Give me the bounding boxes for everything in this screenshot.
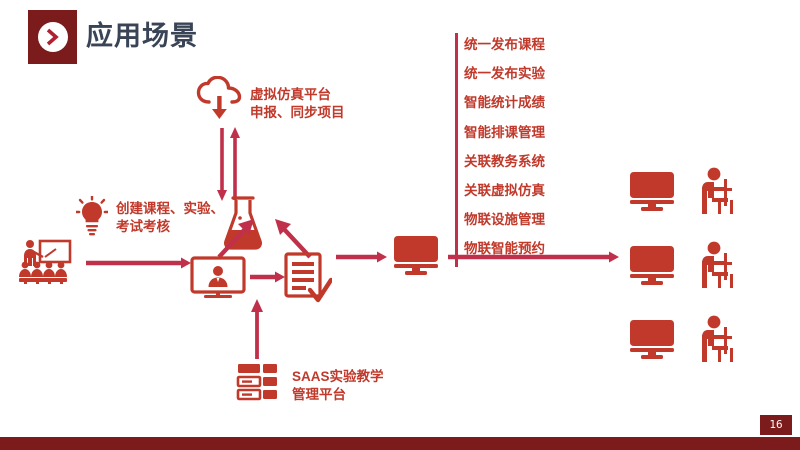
classroom-teaching-icon bbox=[16, 238, 74, 289]
monitor-icon bbox=[628, 170, 676, 217]
lightbulb-idea-icon bbox=[76, 196, 108, 241]
cloud-platform-label: 虚拟仿真平台 申报、同步项目 bbox=[250, 86, 345, 122]
student-seated-icon bbox=[698, 166, 736, 219]
list-item: 关联教务系统 bbox=[464, 147, 545, 176]
document-to-central-monitor-arrow bbox=[336, 250, 388, 269]
student-seated-icon bbox=[698, 314, 736, 367]
feature-list-rule bbox=[455, 33, 458, 267]
saas-to-document-arrow bbox=[249, 298, 265, 365]
saas-platform-label: SAAS实验教学 管理平台 bbox=[292, 368, 384, 404]
page-number: 16 bbox=[760, 415, 792, 435]
document-checkmark-icon bbox=[284, 252, 332, 309]
title-badge bbox=[28, 10, 77, 64]
create-course-label: 创建课程、实验、 考试考核 bbox=[116, 200, 224, 236]
list-item: 关联虚拟仿真 bbox=[464, 176, 545, 205]
list-item: 统一发布课程 bbox=[464, 30, 545, 59]
chevron-right-circle-icon bbox=[38, 22, 68, 52]
monitor-to-document-arrow bbox=[250, 270, 286, 289]
classroom-to-monitor-arrow bbox=[86, 256, 192, 275]
feature-list: 统一发布课程 统一发布实验 智能统计成绩 智能排课管理 关联教务系统 关联虚拟仿… bbox=[464, 30, 545, 264]
cloud-download-icon bbox=[196, 76, 244, 125]
cloud-flask-bidirectional-arrow bbox=[216, 126, 242, 207]
server-stack-icon bbox=[236, 362, 280, 407]
slide-canvas: 应用场景 bbox=[0, 0, 800, 450]
list-item: 统一发布实验 bbox=[464, 59, 545, 88]
footer-bar bbox=[0, 437, 800, 450]
list-item: 物联智能预约 bbox=[464, 234, 545, 263]
monitor-person-icon bbox=[190, 256, 246, 305]
monitor-icon bbox=[628, 318, 676, 365]
list-item: 智能统计成绩 bbox=[464, 88, 545, 117]
list-item: 物联设施管理 bbox=[464, 205, 545, 234]
monitor-icon bbox=[628, 244, 676, 291]
list-item: 智能排课管理 bbox=[464, 118, 545, 147]
monitor-icon bbox=[392, 234, 440, 281]
page-title: 应用场景 bbox=[86, 19, 198, 53]
student-seated-icon bbox=[698, 240, 736, 293]
